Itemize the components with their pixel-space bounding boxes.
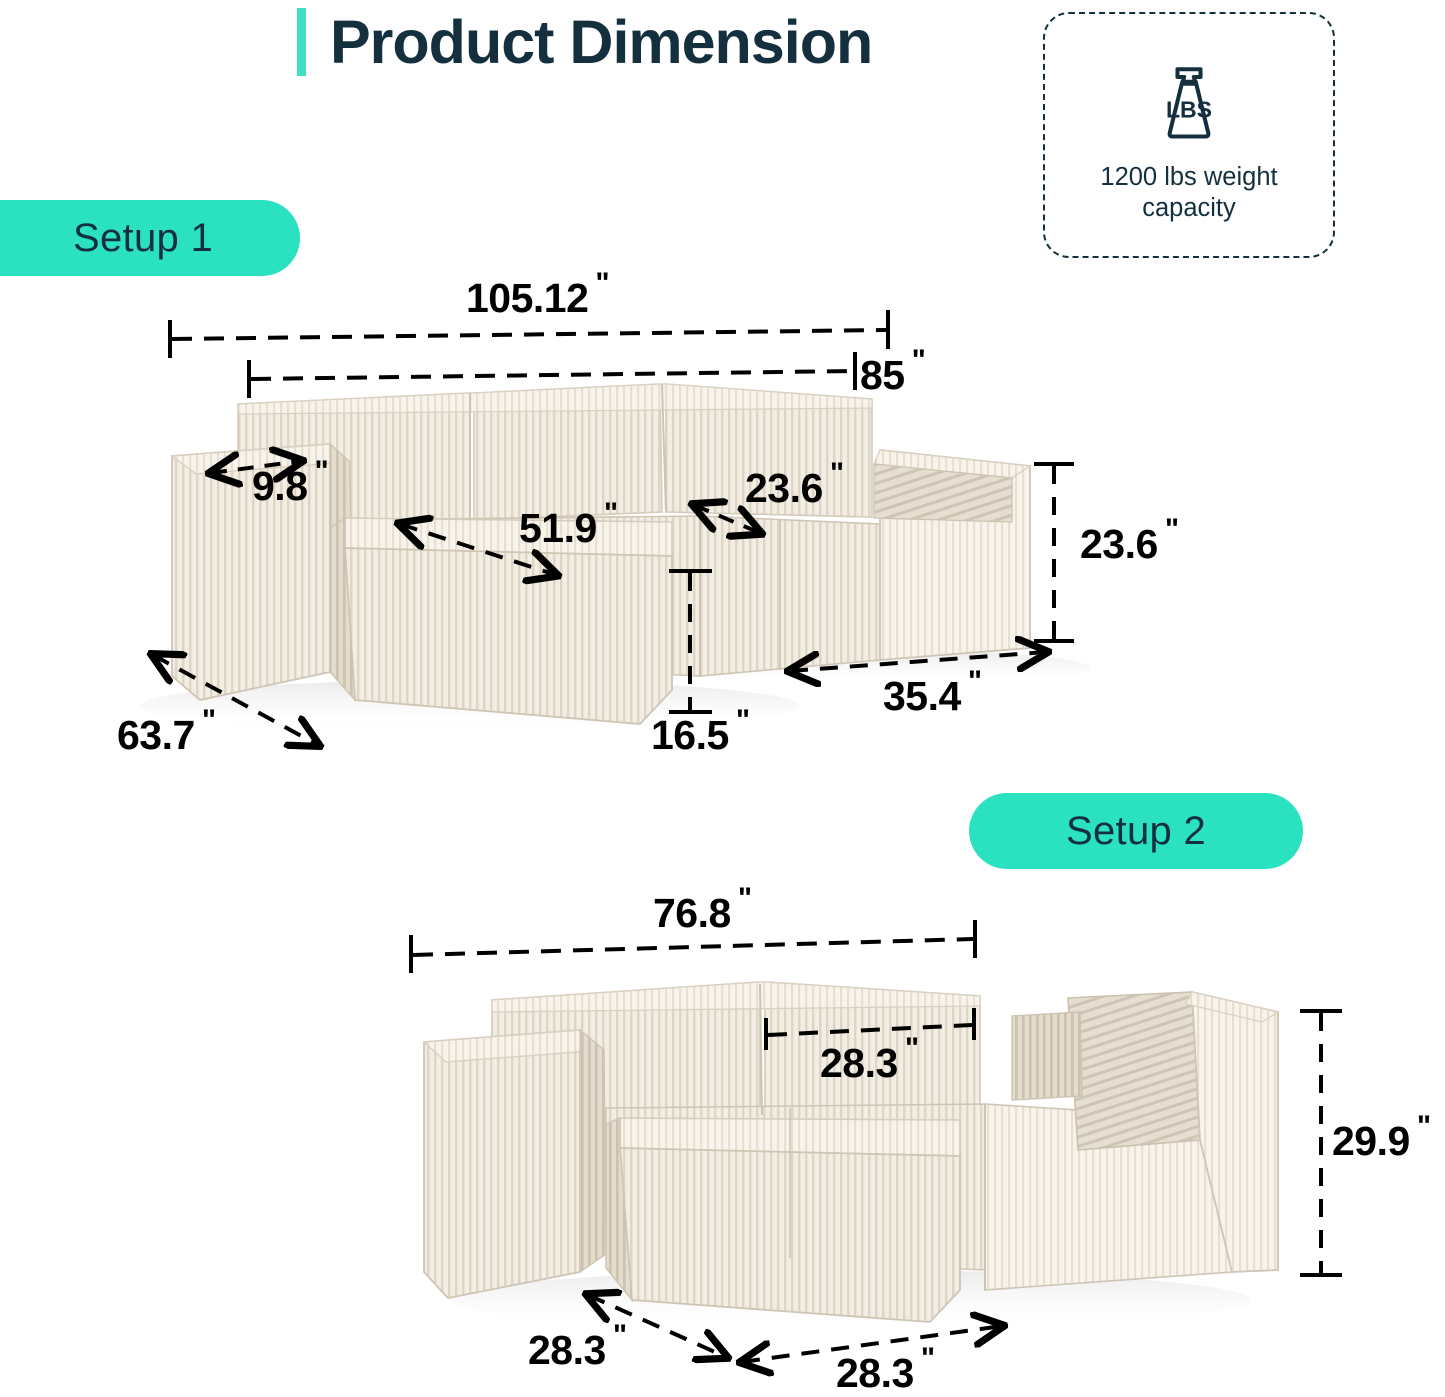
left-arm-top-2 <box>424 1030 604 1062</box>
chaise-side <box>330 518 355 700</box>
title-accent-bar <box>297 8 306 76</box>
dim-line-35-4 <box>790 652 1046 671</box>
dim-label-overall-depth: 63.7" <box>117 712 216 759</box>
dim-line-105 <box>172 330 886 339</box>
back-top-edge <box>238 384 872 414</box>
chaise-front <box>345 548 672 724</box>
right-arm-top <box>874 450 1030 478</box>
dim-label-overall-height-1: 23.6" <box>1080 521 1179 568</box>
seam <box>760 984 762 1115</box>
weight-capacity-text: 1200 lbs weight capacity <box>1069 162 1309 224</box>
page-title: Product Dimension <box>330 0 1030 84</box>
left-arm-inner <box>330 444 352 672</box>
right-seat-2 <box>985 1104 1232 1290</box>
weight-capacity-badge: LBS 1200 lbs weight capacity <box>1043 12 1335 258</box>
dim-label-inner-width-1: 85" <box>860 352 925 399</box>
dim-label-seat-height: 16.5" <box>651 712 750 759</box>
dim-label-backrest-width: 28.3" <box>820 1040 919 1087</box>
right-arm-outer <box>880 450 1030 660</box>
back-cushion-left-2 <box>492 982 760 1128</box>
right-side-pillow-2 <box>1012 1012 1082 1100</box>
floor-shadow <box>450 1270 1250 1330</box>
weight-icon: LBS <box>1141 52 1237 148</box>
dim-label-chaise-depth: 51.9" <box>519 505 618 552</box>
dim-line-28-3-back <box>768 1025 972 1035</box>
right-back-pillow-2 <box>1068 992 1200 1150</box>
setup-1-badge: Setup 1 <box>0 200 300 276</box>
dim-label-overall-height-2: 29.9" <box>1332 1118 1431 1165</box>
ottoman-side-2 <box>606 1118 632 1300</box>
left-arm-outer-2 <box>424 1030 580 1298</box>
left-arm-inner-2 <box>580 1030 606 1272</box>
seat-deck-2 <box>606 1104 985 1270</box>
ottoman-front-2 <box>620 1148 960 1322</box>
seam <box>662 384 666 512</box>
right-arm-2 <box>1192 992 1278 1272</box>
setup-2-badge: Setup 2 <box>969 793 1303 869</box>
right-back-pillow <box>874 464 1012 522</box>
floor-shadow <box>670 650 1090 686</box>
dim-label-module-depth: 35.4" <box>883 673 982 720</box>
seat-base-right <box>700 516 880 676</box>
dim-label-arm-width: 9.8" <box>252 463 328 510</box>
dim-label-overall-width-2: 76.8" <box>653 890 752 937</box>
dim-label-seat-depth-upper: 23.6" <box>745 465 844 512</box>
dim-line-76-8 <box>413 939 973 955</box>
back-top-edge-2 <box>492 982 980 1012</box>
dim-line-85 <box>251 371 853 379</box>
chaise-top <box>345 518 672 556</box>
dim-label-overall-width-1: 105.12" <box>466 275 609 322</box>
ottoman-top-2 <box>620 1118 960 1156</box>
back-cushion-mid <box>474 384 662 520</box>
right-arm-top-2 <box>1186 992 1278 1022</box>
weight-icon-label: LBS <box>1166 96 1212 122</box>
dimension-lines-setup-2 <box>411 920 1342 1362</box>
dim-label-ottoman-depth-left: 28.3" <box>528 1327 627 1374</box>
